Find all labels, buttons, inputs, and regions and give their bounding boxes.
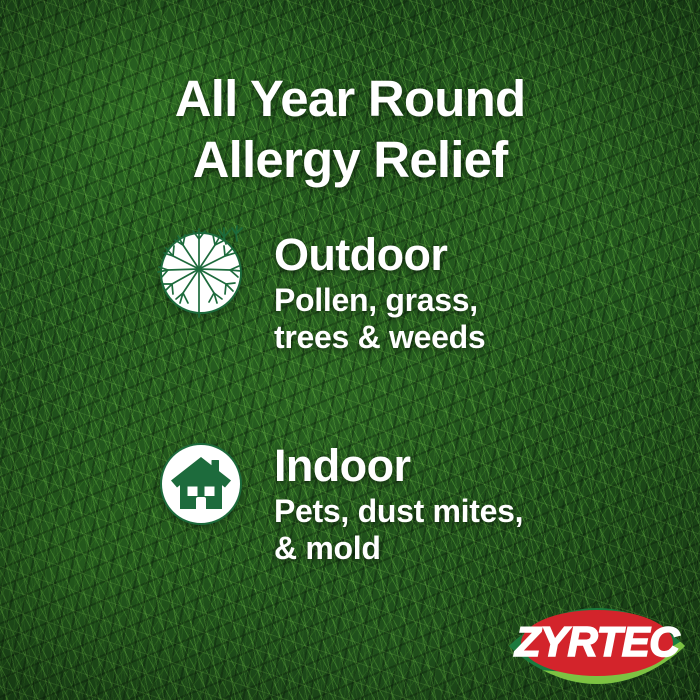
headline-line-2: Allergy Relief [0,129,700,190]
dandelion-pollen-icon [162,225,240,321]
outdoor-text-block: Outdoor Pollen, grass, trees & weeds [274,230,692,356]
poster-content: All Year Round Allergy Relief [0,0,700,700]
outdoor-icon-badge [160,232,242,314]
indoor-text-block: Indoor Pets, dust mites, & mold [274,441,692,567]
house-icon [170,455,232,513]
logo-wordmark: ZYRTEC [514,618,680,665]
headline-line-1: All Year Round [0,68,700,129]
outdoor-desc-line-2: trees & weeds [274,319,692,356]
indoor-description: Pets, dust mites, & mold [274,493,692,567]
headline: All Year Round Allergy Relief [0,68,700,190]
outdoor-title: Outdoor [274,230,692,279]
indoor-desc-line-1: Pets, dust mites, [274,493,692,530]
zyrtec-logo: ZYRTEC [497,596,693,692]
outdoor-description: Pollen, grass, trees & weeds [274,282,692,356]
indoor-title: Indoor [274,441,692,490]
outdoor-desc-line-1: Pollen, grass, [274,282,692,319]
indoor-desc-line-2: & mold [274,530,692,567]
zyrtec-allergy-relief-poster: All Year Round Allergy Relief [0,0,700,700]
indoor-icon-badge [160,443,242,525]
